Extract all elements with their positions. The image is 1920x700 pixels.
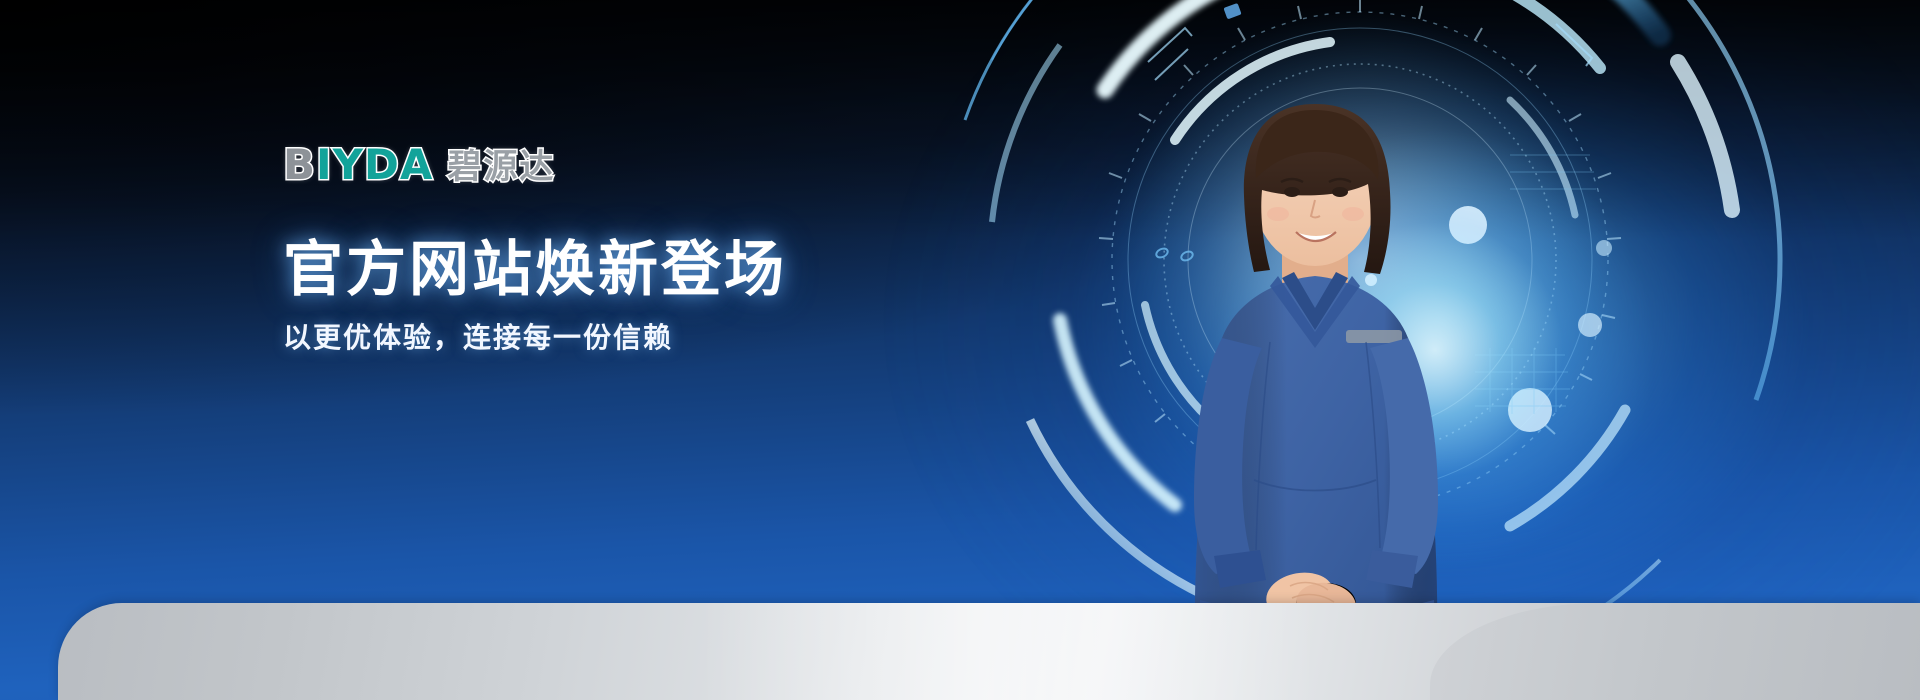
- brand-logo-letters: IYDA: [316, 140, 433, 189]
- brand-logo[interactable]: BIYDA 碧源达: [283, 140, 1043, 186]
- brand-logo-letter-b: B: [283, 140, 316, 189]
- brand-logo-chinese: 碧源达: [447, 150, 555, 184]
- bottom-panel-right: [1430, 603, 1920, 700]
- page-subtitle: 以更优体验，连接每一份信赖: [283, 324, 1043, 352]
- brand-logo-latin: BIYDA: [283, 144, 433, 186]
- hero-content: BIYDA 碧源达 官方网站焕新登场 以更优体验，连接每一份信赖: [283, 140, 1043, 352]
- page-title: 官方网站焕新登场: [283, 240, 1043, 300]
- hero-banner: BIYDA 碧源达 官方网站焕新登场 以更优体验，连接每一份信赖: [0, 0, 1920, 700]
